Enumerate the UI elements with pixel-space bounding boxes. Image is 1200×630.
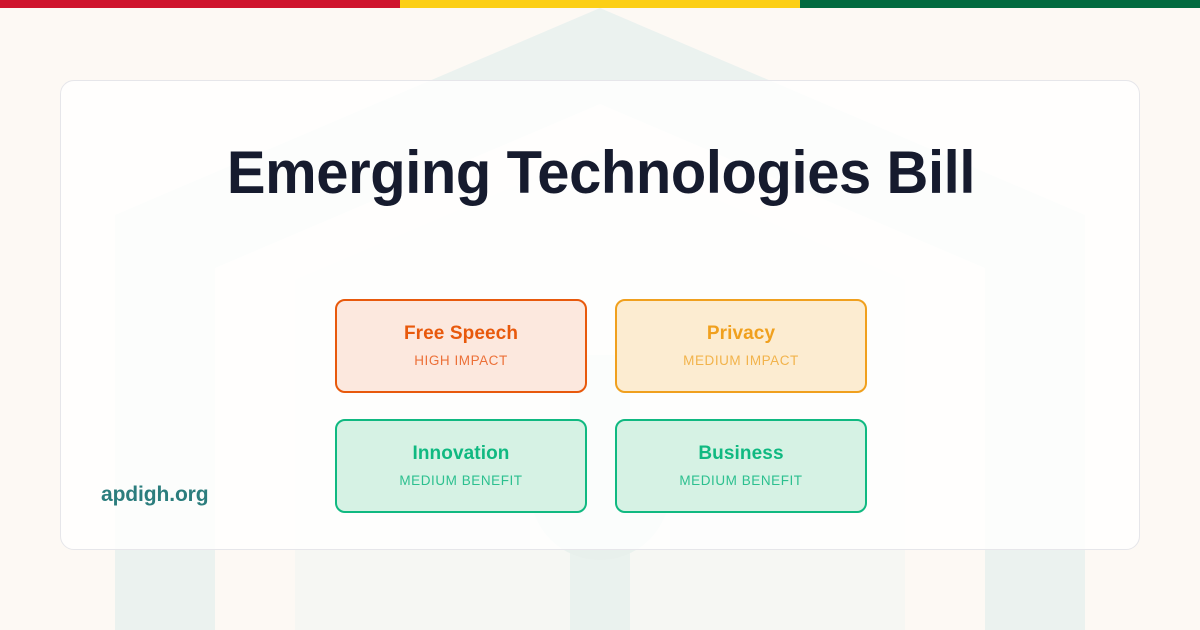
- flag-stripe-yellow: [400, 0, 800, 8]
- main-content-card: Emerging Technologies Bill Free Speech H…: [60, 80, 1140, 550]
- badge-level-label: MEDIUM BENEFIT: [679, 474, 802, 488]
- page-title: Emerging Technologies Bill: [80, 143, 1122, 203]
- site-attribution-label: apdigh.org: [101, 483, 209, 507]
- badge-title: Innovation: [412, 444, 509, 463]
- impact-badge-grid: Free Speech HIGH IMPACT Privacy MEDIUM I…: [335, 299, 867, 513]
- badge-free-speech[interactable]: Free Speech HIGH IMPACT: [335, 299, 587, 393]
- badge-business[interactable]: Business MEDIUM BENEFIT: [615, 419, 867, 513]
- flag-stripe-green: [800, 0, 1200, 8]
- badge-privacy[interactable]: Privacy MEDIUM IMPACT: [615, 299, 867, 393]
- badge-level-label: HIGH IMPACT: [414, 354, 508, 368]
- badge-title: Business: [698, 444, 783, 463]
- badge-title: Privacy: [707, 324, 775, 343]
- tricolor-flag-bar: [0, 0, 1200, 8]
- badge-level-label: MEDIUM BENEFIT: [399, 474, 522, 488]
- badge-innovation[interactable]: Innovation MEDIUM BENEFIT: [335, 419, 587, 513]
- badge-level-label: MEDIUM IMPACT: [683, 354, 799, 368]
- flag-stripe-red: [0, 0, 400, 8]
- badge-title: Free Speech: [404, 324, 518, 343]
